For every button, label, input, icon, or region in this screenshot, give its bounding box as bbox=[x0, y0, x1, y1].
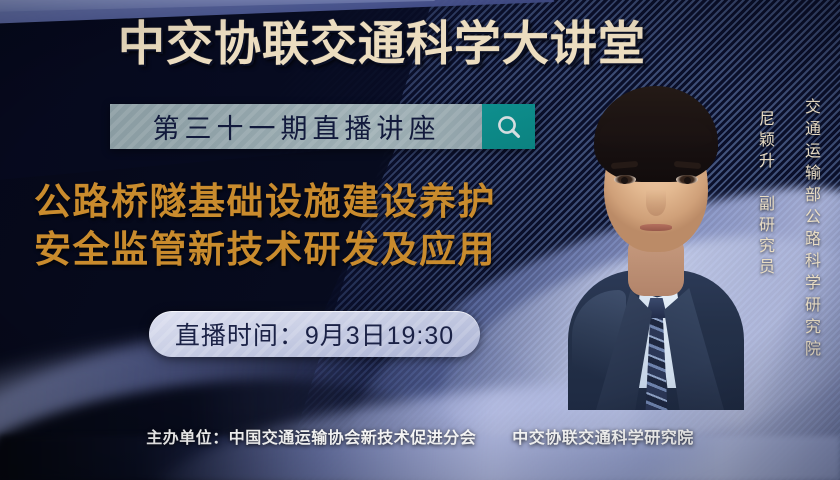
search-icon bbox=[495, 113, 523, 141]
search-icon-button[interactable] bbox=[482, 104, 535, 149]
portrait-hair-fringe bbox=[600, 116, 712, 150]
speaker-portrait bbox=[566, 58, 746, 410]
livestream-poster: 中交协联交通科学大讲堂 第三十一期直播讲座 公路桥隧基础设施建设养护 安全监管新… bbox=[0, 0, 840, 480]
footer-organizer-secondary: 中交协联交通科学研究院 bbox=[512, 430, 694, 447]
portrait-pupil-right bbox=[684, 177, 691, 184]
episode-banner-body: 第三十一期直播讲座 bbox=[110, 104, 482, 149]
portrait-nose bbox=[646, 190, 666, 216]
footer-organizers: 主办单位：中国交通运输协会新技术促进分会 中交协联交通科学研究院 bbox=[0, 424, 840, 448]
lecture-title: 公路桥隧基础设施建设养护 安全监管新技术研发及应用 bbox=[34, 178, 496, 274]
broadcast-time-pill: 直播时间：9月3日19:30 bbox=[149, 311, 480, 357]
lecture-title-line-2: 安全监管新技术研发及应用 bbox=[34, 226, 496, 274]
broadcast-time-label: 直播时间：9月3日19:30 bbox=[175, 316, 454, 352]
speaker-organization: 交通运输部公路科学研究院 bbox=[798, 98, 822, 362]
lecture-title-line-1: 公路桥隧基础设施建设养护 bbox=[34, 178, 496, 226]
portrait-mouth bbox=[640, 224, 672, 231]
episode-label: 第三十一期直播讲座 bbox=[148, 107, 441, 146]
speaker-name-title: 尼颖升 副研究员 bbox=[752, 110, 776, 279]
episode-banner: 第三十一期直播讲座 bbox=[110, 104, 535, 149]
portrait-pupil-left bbox=[621, 177, 628, 184]
page-title: 中交协联交通科学大讲堂 bbox=[118, 20, 646, 67]
footer-organizer-primary: 主办单位：中国交通运输协会新技术促进分会 bbox=[146, 430, 476, 447]
